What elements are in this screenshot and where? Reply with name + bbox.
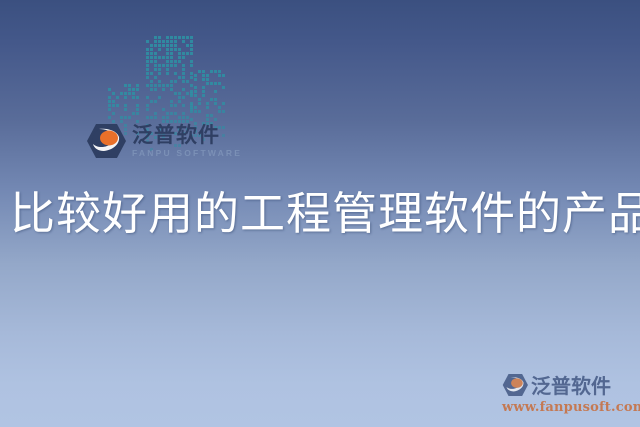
skyline-pixel xyxy=(198,102,201,105)
skyline-pixel xyxy=(174,48,177,51)
skyline-pixel xyxy=(158,96,161,99)
brand-name-chinese: 泛普软件 xyxy=(132,125,242,146)
skyline-pixel xyxy=(170,80,173,83)
skyline-pixel xyxy=(150,84,153,87)
pixel-skyline-decoration xyxy=(108,32,218,128)
skyline-pixel xyxy=(154,52,157,55)
skyline-pixel xyxy=(146,52,149,55)
skyline-pixel xyxy=(190,76,193,79)
skyline-pixel xyxy=(112,112,115,115)
skyline-pixel xyxy=(182,56,185,59)
skyline-pixel xyxy=(162,64,165,67)
skyline-pixel xyxy=(190,102,193,105)
skyline-pixel xyxy=(170,44,173,47)
skyline-pixel xyxy=(166,44,169,47)
skyline-pixel xyxy=(162,56,165,59)
skyline-pixel xyxy=(174,36,177,39)
skyline-pixel xyxy=(150,72,153,75)
skyline-pixel xyxy=(150,88,153,91)
skyline-pixel xyxy=(186,36,189,39)
skyline-pixel xyxy=(166,60,169,63)
skyline-pixel xyxy=(186,116,189,119)
skyline-pixel xyxy=(206,114,209,117)
skyline-pixel xyxy=(194,90,197,93)
skyline-pixel xyxy=(170,64,173,67)
skyline-pixel xyxy=(146,108,149,111)
skyline-pixel xyxy=(174,80,177,83)
skyline-pixel xyxy=(178,96,181,99)
skyline-pixel xyxy=(154,56,157,59)
watermark-brand-chinese: 泛普软件 xyxy=(531,370,611,399)
skyline-pixel xyxy=(124,108,127,111)
skyline-pixel xyxy=(174,64,177,67)
skyline-pixel xyxy=(170,112,173,115)
skyline-pixel xyxy=(170,84,173,87)
skyline-pixel xyxy=(154,76,157,79)
skyline-pixel xyxy=(190,110,193,113)
skyline-pixel xyxy=(222,102,225,105)
brand-name-english: FANPU SOFTWARE xyxy=(132,149,242,158)
skyline-pixel xyxy=(214,70,217,73)
skyline-pixel xyxy=(174,40,177,43)
skyline-pixel xyxy=(146,116,149,119)
skyline-pixel xyxy=(174,92,177,95)
page-title: 比较好用的工程管理软件的产品 xyxy=(10,189,630,239)
skyline-pixel xyxy=(154,116,157,119)
skyline-pixel xyxy=(150,56,153,59)
skyline-pixel xyxy=(182,72,185,75)
skyline-pixel xyxy=(190,90,193,93)
skyline-pixel xyxy=(132,96,135,99)
skyline-pixel xyxy=(202,94,205,97)
skyline-pixel xyxy=(182,36,185,39)
skyline-pixel xyxy=(170,60,173,63)
skyline-pixel xyxy=(182,96,185,99)
skyline-pixel xyxy=(166,72,169,75)
skyline-pixel xyxy=(218,110,221,113)
skyline-pixel xyxy=(132,112,135,115)
skyline-pixel xyxy=(136,108,139,111)
skyline-pixel xyxy=(166,116,169,119)
skyline-pixel xyxy=(154,64,157,67)
skyline-pixel xyxy=(170,88,173,91)
skyline-pixel xyxy=(182,64,185,67)
skyline-pixel xyxy=(186,92,189,95)
skyline-pixel xyxy=(124,84,127,87)
skyline-pixel xyxy=(108,108,111,111)
skyline-pixel xyxy=(206,102,209,105)
skyline-pixel xyxy=(158,48,161,51)
skyline-pixel xyxy=(158,40,161,43)
skyline-pixel xyxy=(146,84,149,87)
watermark: 泛普软件 www.fanpusoft.com xyxy=(502,370,638,415)
skyline-pixel xyxy=(206,106,209,109)
skyline-pixel xyxy=(150,52,153,55)
skyline-pixel xyxy=(190,72,193,75)
skyline-pixel xyxy=(190,92,193,95)
skyline-pixel xyxy=(112,120,115,123)
skyline-pixel xyxy=(170,100,173,103)
skyline-pixel xyxy=(190,52,193,55)
skyline-pixel xyxy=(154,36,157,39)
watermark-logo-row: 泛普软件 xyxy=(502,370,638,399)
skyline-pixel xyxy=(202,86,205,89)
skyline-pixel xyxy=(154,100,157,103)
skyline-pixel xyxy=(170,56,173,59)
skyline-pixel xyxy=(178,76,181,79)
skyline-pixel xyxy=(158,44,161,47)
skyline-pixel xyxy=(174,72,177,75)
promo-banner: 泛普软件 FANPU SOFTWARE 比较好用的工程管理软件的产品 泛普软件 … xyxy=(0,0,640,427)
skyline-pixel xyxy=(178,48,181,51)
skyline-pixel xyxy=(150,116,153,119)
skyline-pixel xyxy=(116,104,119,107)
skyline-pixel xyxy=(194,94,197,97)
skyline-pixel xyxy=(190,40,193,43)
skyline-pixel xyxy=(206,82,209,85)
skyline-pixel xyxy=(162,108,165,111)
skyline-pixel xyxy=(178,60,181,63)
skyline-pixel xyxy=(150,80,153,83)
skyline-pixel xyxy=(132,92,135,95)
skyline-pixel xyxy=(190,108,193,111)
skyline-pixel xyxy=(146,104,149,107)
skyline-pixel xyxy=(154,88,157,91)
skyline-pixel xyxy=(132,88,135,91)
fanpu-hexagon-logo-icon xyxy=(502,374,528,396)
skyline-pixel xyxy=(136,84,139,87)
skyline-pixel xyxy=(162,40,165,43)
skyline-pixel xyxy=(154,68,157,71)
skyline-pixel xyxy=(146,60,149,63)
skyline-pixel xyxy=(166,36,169,39)
skyline-pixel xyxy=(154,40,157,43)
skyline-pixel xyxy=(128,84,131,87)
skyline-pixel xyxy=(154,112,157,115)
skyline-pixel xyxy=(222,86,225,89)
skyline-pixel xyxy=(178,100,181,103)
skyline-pixel xyxy=(202,78,205,81)
skyline-pixel xyxy=(174,104,177,107)
skyline-pixel xyxy=(198,110,201,113)
skyline-pixel xyxy=(146,76,149,79)
skyline-pixel xyxy=(150,100,153,103)
skyline-pixel xyxy=(162,44,165,47)
skyline-pixel xyxy=(116,96,119,99)
skyline-pixel xyxy=(162,88,165,91)
skyline-pixel xyxy=(218,70,221,73)
skyline-pixel xyxy=(146,96,149,99)
skyline-pixel xyxy=(158,64,161,67)
skyline-pixel xyxy=(146,64,149,67)
skyline-pixel xyxy=(210,114,213,117)
skyline-pixel xyxy=(166,56,169,59)
skyline-pixel xyxy=(136,96,139,99)
skyline-pixel xyxy=(158,84,161,87)
skyline-pixel xyxy=(218,82,221,85)
skyline-pixel xyxy=(120,120,123,123)
skyline-pixel xyxy=(178,56,181,59)
skyline-pixel xyxy=(166,40,169,43)
skyline-pixel xyxy=(202,70,205,73)
skyline-pixel xyxy=(194,86,197,89)
skyline-pixel xyxy=(128,116,131,119)
skyline-pixel xyxy=(222,110,225,113)
skyline-pixel xyxy=(214,82,217,85)
skyline-pixel xyxy=(182,112,185,115)
skyline-pixel xyxy=(186,44,189,47)
skyline-pixel xyxy=(158,68,161,71)
skyline-pixel xyxy=(198,70,201,73)
skyline-pixel xyxy=(112,104,115,107)
skyline-pixel xyxy=(178,92,181,95)
skyline-pixel xyxy=(158,36,161,39)
skyline-pixel xyxy=(166,84,169,87)
skyline-pixel xyxy=(170,104,173,107)
skyline-pixel xyxy=(166,48,169,51)
skyline-pixel xyxy=(218,106,221,109)
skyline-pixel xyxy=(108,88,111,91)
skyline-pixel xyxy=(194,78,197,81)
skyline-pixel xyxy=(182,52,185,55)
skyline-pixel xyxy=(154,44,157,47)
skyline-pixel xyxy=(124,116,127,119)
watermark-url: www.fanpusoft.com xyxy=(502,400,638,415)
skyline-pixel xyxy=(146,48,149,51)
skyline-pixel xyxy=(158,72,161,75)
skyline-pixel xyxy=(182,104,185,107)
skyline-pixel xyxy=(108,100,111,103)
skyline-pixel xyxy=(182,80,185,83)
skyline-pixel xyxy=(206,74,209,77)
skyline-pixel xyxy=(198,98,201,101)
skyline-pixel xyxy=(108,116,111,119)
skyline-pixel xyxy=(210,70,213,73)
skyline-pixel xyxy=(222,74,225,77)
skyline-pixel xyxy=(186,80,189,83)
skyline-pixel xyxy=(170,48,173,51)
skyline-pixel xyxy=(170,36,173,39)
brand-logo: 泛普软件 FANPU SOFTWARE xyxy=(86,124,242,158)
skyline-pixel xyxy=(150,60,153,63)
skyline-pixel xyxy=(206,78,209,81)
skyline-pixel xyxy=(190,60,193,63)
skyline-pixel xyxy=(214,98,217,101)
skyline-pixel xyxy=(120,116,123,119)
skyline-pixel xyxy=(190,106,193,109)
skyline-pixel xyxy=(194,74,197,77)
skyline-pixel xyxy=(166,68,169,71)
skyline-pixel xyxy=(174,60,177,63)
skyline-pixel xyxy=(190,36,193,39)
skyline-pixel xyxy=(182,68,185,71)
skyline-pixel xyxy=(214,102,217,105)
skyline-pixel xyxy=(136,104,139,107)
skyline-pixel xyxy=(128,92,131,95)
skyline-pixel xyxy=(210,82,213,85)
skyline-pixel xyxy=(178,36,181,39)
skyline-pixel xyxy=(124,92,127,95)
skyline-pixel xyxy=(202,74,205,77)
skyline-pixel xyxy=(136,112,139,115)
skyline-pixel xyxy=(182,40,185,43)
skyline-pixel xyxy=(136,88,139,91)
skyline-pixel xyxy=(214,90,217,93)
skyline-pixel xyxy=(154,84,157,87)
skyline-pixel xyxy=(146,56,149,59)
skyline-pixel xyxy=(170,52,173,55)
skyline-pixel xyxy=(150,48,153,51)
skyline-pixel xyxy=(158,56,161,59)
skyline-pixel xyxy=(206,118,209,121)
skyline-pixel xyxy=(186,52,189,55)
skyline-pixel xyxy=(190,118,193,121)
skyline-pixel xyxy=(120,92,123,95)
skyline-pixel xyxy=(178,116,181,119)
skyline-pixel xyxy=(190,44,193,47)
skyline-pixel xyxy=(182,116,185,119)
skyline-pixel xyxy=(166,112,169,115)
skyline-pixel xyxy=(194,110,197,113)
skyline-pixel xyxy=(108,104,111,107)
skyline-pixel xyxy=(124,104,127,107)
skyline-pixel xyxy=(146,40,149,43)
skyline-pixel xyxy=(150,44,153,47)
skyline-pixel xyxy=(178,52,181,55)
skyline-pixel xyxy=(166,52,169,55)
skyline-pixel xyxy=(190,48,193,51)
skyline-pixel xyxy=(190,64,193,67)
skyline-pixel xyxy=(210,98,213,101)
skyline-pixel xyxy=(174,44,177,47)
skyline-pixel xyxy=(128,88,131,91)
skyline-pixel xyxy=(182,88,185,91)
skyline-pixel xyxy=(154,60,157,63)
fanpu-hexagon-logo-icon xyxy=(86,124,126,158)
skyline-pixel xyxy=(146,68,149,71)
skyline-pixel xyxy=(158,80,161,83)
skyline-pixel xyxy=(182,76,185,79)
skyline-pixel xyxy=(194,106,197,109)
skyline-pixel xyxy=(174,112,177,115)
skyline-pixel xyxy=(170,40,173,43)
skyline-pixel xyxy=(112,92,115,95)
skyline-pixel xyxy=(124,96,127,99)
skyline-pixel xyxy=(202,90,205,93)
skyline-pixel xyxy=(190,104,193,107)
skyline-pixel xyxy=(190,84,193,87)
skyline-pixel xyxy=(162,116,165,119)
skyline-pixel xyxy=(214,118,217,121)
skyline-pixel xyxy=(108,96,111,99)
skyline-pixel xyxy=(112,100,115,103)
skyline-pixel xyxy=(190,94,193,97)
skyline-pixel xyxy=(146,72,149,75)
skyline-pixel xyxy=(218,74,221,77)
brand-logo-wordmark: 泛普软件 FANPU SOFTWARE xyxy=(132,125,242,158)
skyline-pixel xyxy=(162,84,165,87)
skyline-pixel xyxy=(166,64,169,67)
